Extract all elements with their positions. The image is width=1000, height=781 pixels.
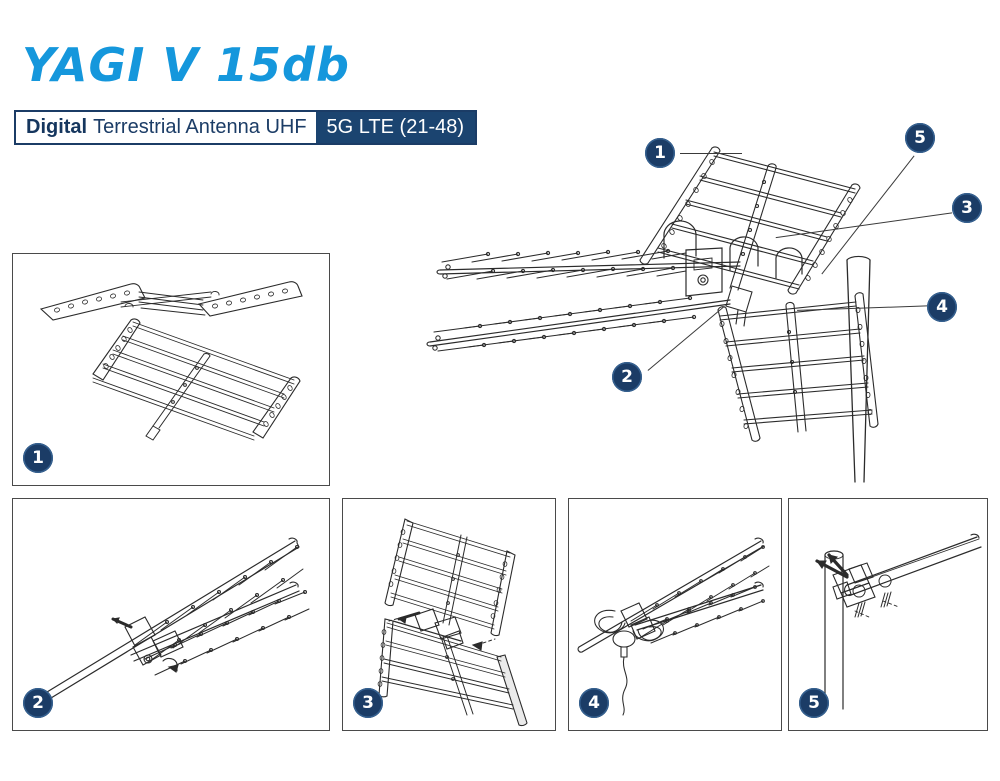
step-5-badge: 5 bbox=[799, 688, 829, 718]
lower-reflector-panel bbox=[718, 293, 878, 442]
mast-pole bbox=[847, 256, 870, 482]
hero-callout-5[interactable]: 5 bbox=[905, 123, 935, 153]
step-panel-2[interactable]: 2 bbox=[12, 498, 330, 731]
step-2-badge: 2 bbox=[23, 688, 53, 718]
page-title: YAGI V 15db bbox=[22, 38, 350, 92]
upper-reflector-panel bbox=[640, 147, 860, 326]
hero-callout-4[interactable]: 4 bbox=[927, 292, 957, 322]
step-panel-4[interactable]: 4 bbox=[568, 498, 782, 731]
hero-callout-3[interactable]: 3 bbox=[952, 193, 982, 223]
step-4-badge: 4 bbox=[579, 688, 609, 718]
step-1-badge: 1 bbox=[23, 443, 53, 473]
step-2-illustration bbox=[13, 499, 330, 731]
hero-callout-1-leader bbox=[680, 153, 742, 154]
step-1-illustration bbox=[13, 254, 330, 486]
step-panel-3[interactable]: 3 bbox=[342, 498, 556, 731]
hero-callout-2[interactable]: 2 bbox=[612, 362, 642, 392]
hero-callout-1[interactable]: 1 bbox=[645, 138, 675, 168]
step-panel-1[interactable]: 1 bbox=[12, 253, 330, 486]
subtitle-regular-text: Terrestrial Antenna UHF bbox=[87, 116, 306, 139]
step-panel-5[interactable]: 5 bbox=[788, 498, 988, 731]
hero-antenna-illustration bbox=[400, 110, 1000, 490]
step-3-badge: 3 bbox=[353, 688, 383, 718]
subtitle-text-group: Digital Terrestrial Antenna UHF bbox=[16, 112, 316, 143]
subtitle-bold-text: Digital bbox=[26, 116, 87, 139]
